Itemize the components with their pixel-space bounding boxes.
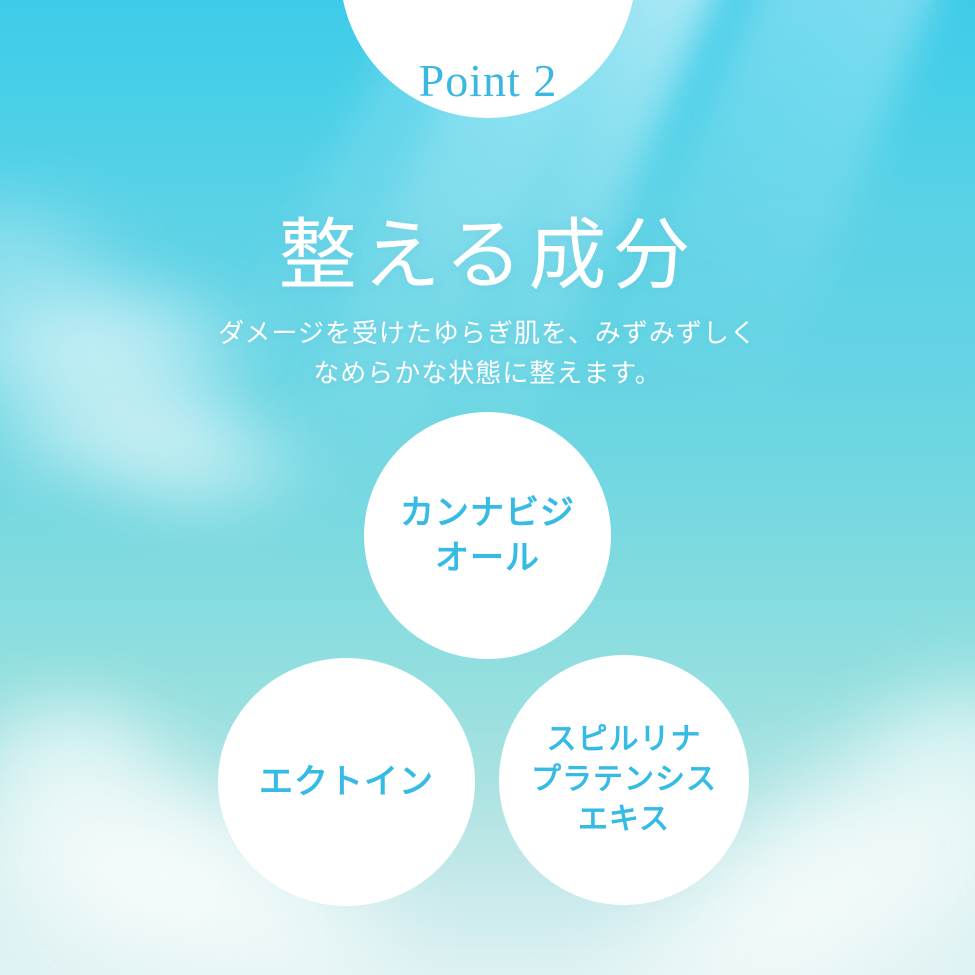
subtitle-line-2: なめらかな状態に整えます。: [0, 354, 975, 394]
ingredient-label: スピルリナ プラテンシス エキス: [521, 720, 727, 841]
ingredient-label-line-2: プラテンシス: [531, 763, 717, 796]
sky-banner: Point 2 整える成分 ダメージを受けたゆらぎ肌を、みずみずしく なめらかな…: [0, 0, 975, 975]
ingredient-bubble-ectoin: エクトイン: [218, 658, 475, 906]
subtitle: ダメージを受けたゆらぎ肌を、みずみずしく なめらかな状態に整えます。: [0, 314, 975, 393]
cloud-icon: [700, 690, 975, 975]
ingredient-label-line-1: エクトイン: [259, 763, 434, 801]
ingredient-bubble-cannabidiol: カンナビジ オール: [364, 412, 611, 659]
ingredient-label: エクトイン: [249, 760, 444, 804]
ingredient-label: カンナビジ オール: [390, 491, 585, 579]
cloud-icon: [80, 390, 340, 540]
subtitle-line-1: ダメージを受けたゆらぎ肌を、みずみずしく: [0, 314, 975, 354]
point-badge-label: Point 2: [419, 58, 558, 104]
page-title: 整える成分: [0, 215, 975, 298]
ingredient-label-line-1: カンナビジ: [400, 494, 575, 532]
ingredient-bubble-spirulina: スピルリナ プラテンシス エキス: [499, 655, 749, 905]
cloud-haze-band: [0, 775, 975, 975]
point-badge: Point 2: [340, 0, 636, 118]
ingredient-label-line-1: スピルリナ: [547, 723, 702, 756]
ingredient-label-line-3: エキス: [578, 803, 670, 836]
ingredient-label-line-2: オール: [435, 539, 540, 577]
cloud-icon: [0, 660, 200, 860]
cloud-icon: [830, 640, 975, 860]
